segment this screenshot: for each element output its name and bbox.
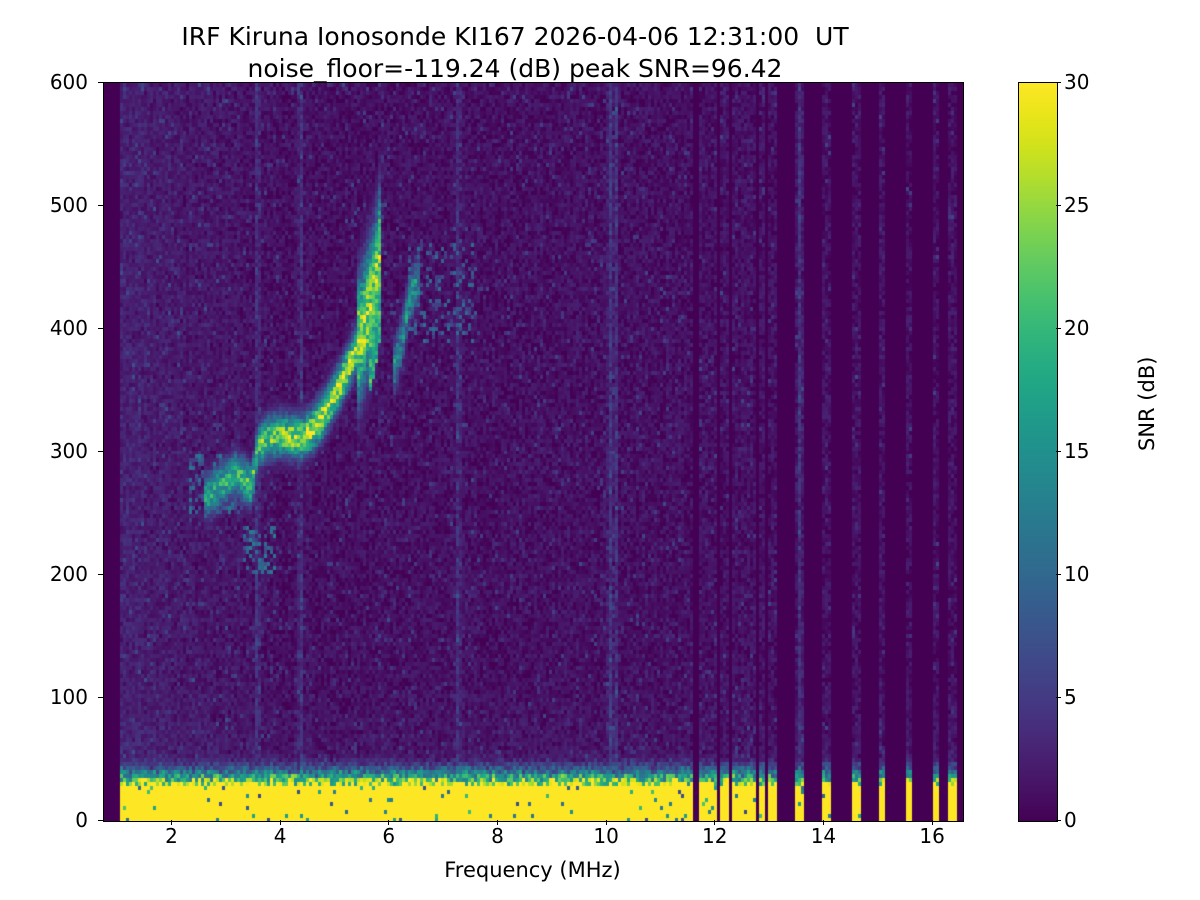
y-tick-mark (98, 328, 103, 329)
y-tick-label: 400 (50, 318, 88, 338)
colorbar-tick-mark (1056, 820, 1061, 821)
x-tick-mark (932, 820, 933, 825)
x-tick-mark (171, 820, 172, 825)
x-axis-label: Frequency (MHz) (103, 858, 962, 882)
y-tick-label: 200 (50, 564, 88, 584)
figure-title-line1: IRF Kiruna Ionosonde KI167 2026-04-06 12… (0, 20, 1030, 54)
y-tick-mark (98, 574, 103, 575)
ionogram-figure: IRF Kiruna Ionosonde KI167 2026-04-06 12… (0, 0, 1200, 900)
colorbar-tick-label: 20 (1064, 318, 1089, 338)
x-tick-label: 4 (250, 826, 310, 846)
y-tick-mark (98, 820, 103, 821)
colorbar-tick-mark (1056, 328, 1061, 329)
y-tick-label: 500 (50, 195, 88, 215)
colorbar-tick-mark (1056, 82, 1061, 83)
colorbar (1018, 82, 1058, 822)
colorbar-tick-label: 10 (1064, 564, 1089, 584)
x-tick-mark (280, 820, 281, 825)
colorbar-tick-mark (1056, 574, 1061, 575)
y-tick-label: 0 (75, 810, 88, 830)
x-tick-mark (606, 820, 607, 825)
x-tick-mark (823, 820, 824, 825)
y-tick-label: 600 (50, 72, 88, 92)
y-tick-mark (98, 451, 103, 452)
colorbar-tick-label: 30 (1064, 72, 1089, 92)
x-tick-mark (714, 820, 715, 825)
x-tick-label: 10 (576, 826, 636, 846)
y-tick-label: 100 (50, 687, 88, 707)
colorbar-tick-label: 25 (1064, 195, 1089, 215)
x-tick-mark (388, 820, 389, 825)
x-tick-label: 12 (685, 826, 745, 846)
colorbar-tick-label: 5 (1064, 687, 1077, 707)
x-tick-label: 8 (467, 826, 527, 846)
x-tick-label: 14 (793, 826, 853, 846)
figure-title-line2: noise_floor=-119.24 (dB) peak SNR=96.42 (0, 52, 1030, 86)
colorbar-label: SNR (dB) (1135, 357, 1159, 451)
x-tick-label: 16 (902, 826, 962, 846)
ionogram-plot-area (103, 82, 964, 822)
x-tick-mark (497, 820, 498, 825)
colorbar-tick-label: 0 (1064, 810, 1077, 830)
y-tick-mark (98, 82, 103, 83)
y-tick-mark (98, 697, 103, 698)
colorbar-tick-label: 15 (1064, 441, 1089, 461)
y-tick-mark (98, 205, 103, 206)
ionogram-heatmap (104, 83, 963, 821)
colorbar-tick-mark (1056, 205, 1061, 206)
colorbar-gradient (1019, 83, 1057, 821)
y-tick-label: 300 (50, 441, 88, 461)
x-tick-label: 6 (359, 826, 419, 846)
x-tick-label: 2 (141, 826, 201, 846)
colorbar-tick-mark (1056, 697, 1061, 698)
colorbar-tick-mark (1056, 451, 1061, 452)
